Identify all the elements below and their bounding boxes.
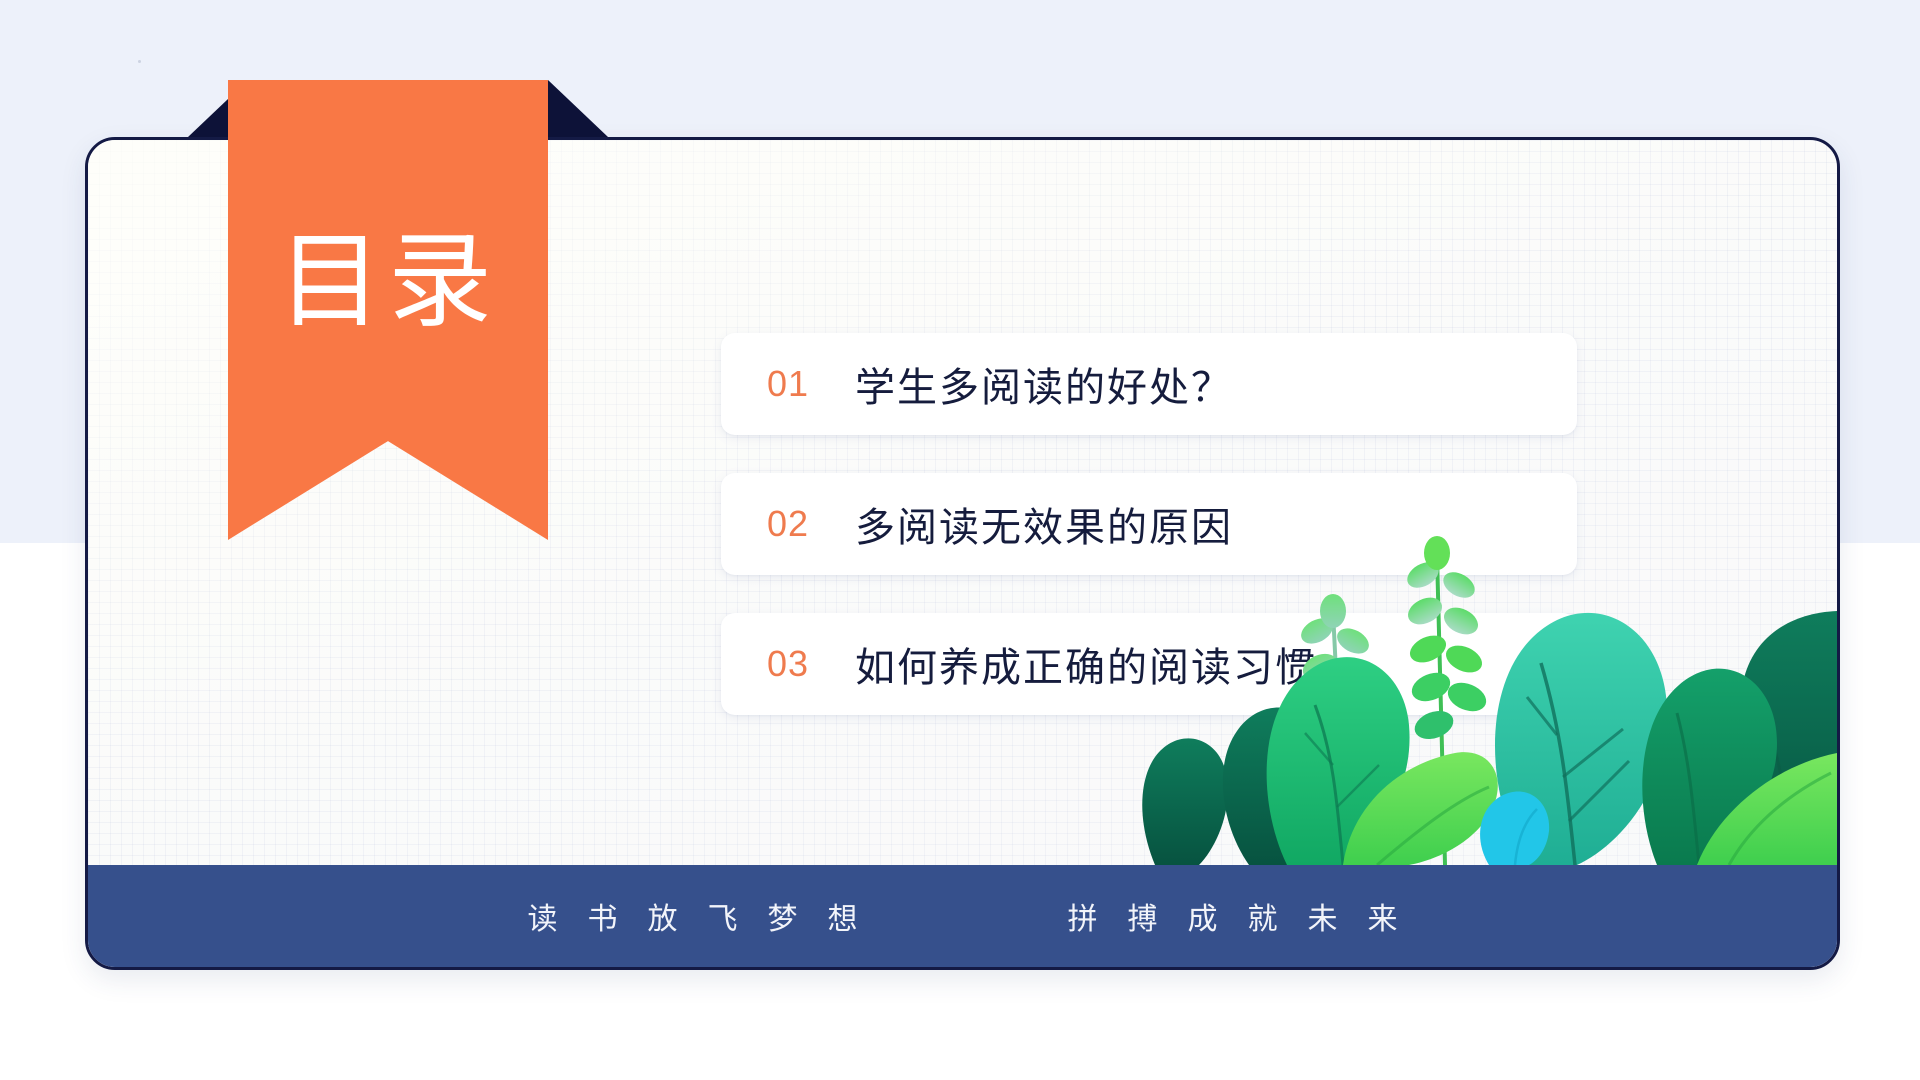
toc-label: 如何养成正确的阅读习惯 <box>855 635 1317 693</box>
toc-item-03[interactable]: 03 如何养成正确的阅读习惯 <box>721 613 1577 715</box>
leaf-bright-left <box>1343 752 1498 865</box>
footer-phrase-left: 读书放飞梦想 <box>498 894 888 938</box>
toc-item-02[interactable]: 02 多阅读无效果的原因 <box>721 473 1577 575</box>
footer-phrase-right: 拼搏成就未来 <box>1038 894 1428 938</box>
toc-number: 02 <box>721 503 855 545</box>
leaf-cyan <box>1480 791 1549 865</box>
leaf-bright-right <box>1697 753 1837 865</box>
page-title: 目录 <box>278 230 498 334</box>
toc-number: 01 <box>721 363 855 405</box>
toc-item-01[interactable]: 01 学生多阅读的好处？ <box>721 333 1577 435</box>
leaf-deep-right <box>1642 669 1777 865</box>
footer-bar: 读书放飞梦想 拼搏成就未来 <box>88 865 1837 967</box>
leaf-dark-right <box>1741 611 1837 865</box>
leaf-dark-far-left <box>1142 738 1228 865</box>
toc-label: 学生多阅读的好处？ <box>855 355 1233 413</box>
table-of-contents: 01 学生多阅读的好处？ 02 多阅读无效果的原因 03 如何养成正确的阅读习惯 <box>721 333 1577 753</box>
toc-number: 03 <box>721 643 855 685</box>
toc-label: 多阅读无效果的原因 <box>855 495 1233 553</box>
bookmark-ribbon: 目录 <box>170 80 570 545</box>
background-speck <box>138 60 141 63</box>
ribbon-banner: 目录 <box>228 80 548 540</box>
slide-stage: 01 学生多阅读的好处？ 02 多阅读无效果的原因 03 如何养成正确的阅读习惯 <box>0 0 1920 1080</box>
